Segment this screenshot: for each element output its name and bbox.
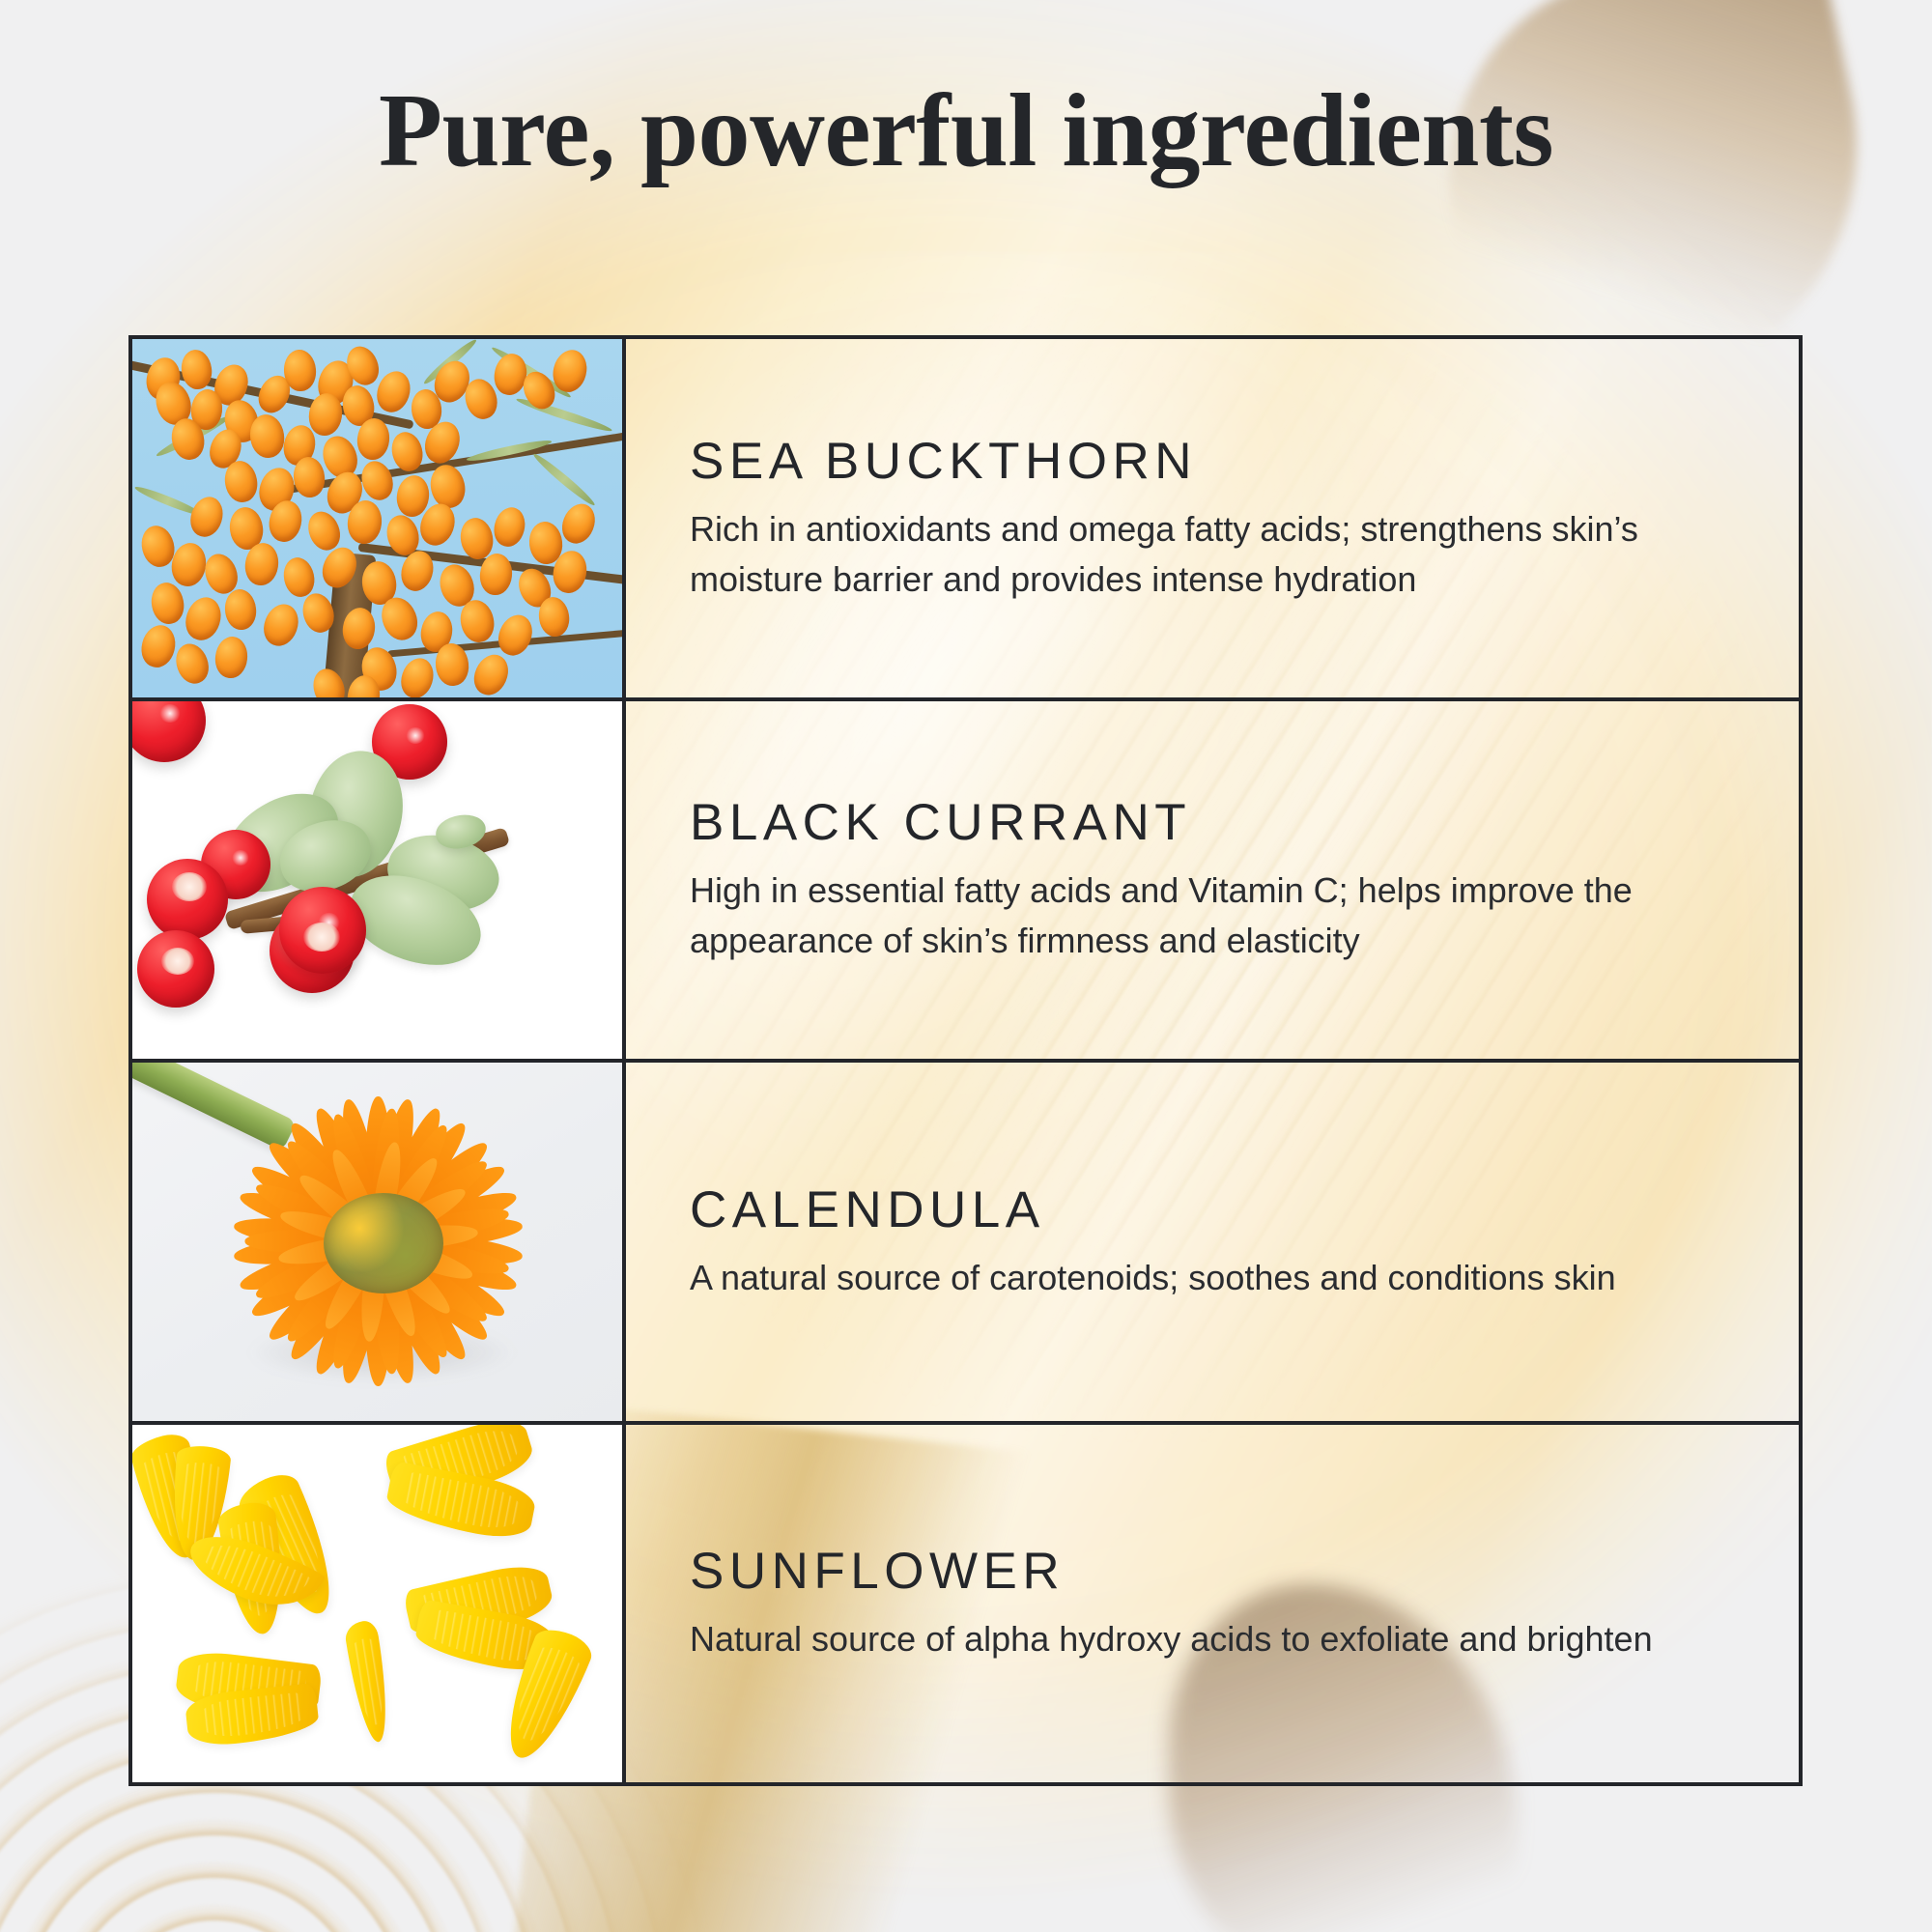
table-row: BLACK CURRANT High in essential fatty ac…	[132, 701, 1799, 1064]
ingredient-text-sunflower: SUNFLOWER Natural source of alpha hydrox…	[626, 1425, 1799, 1783]
table-row: CALENDULA A natural source of carotenoid…	[132, 1063, 1799, 1425]
ingredient-name: CALENDULA	[690, 1180, 1754, 1239]
ingredient-description: Natural source of alpha hydroxy acids to…	[690, 1614, 1743, 1664]
ingredient-photo-sea-buckthorn	[132, 339, 626, 697]
ingredient-photo-sunflower	[132, 1425, 626, 1783]
ingredient-description: High in essential fatty acids and Vitami…	[690, 866, 1743, 966]
ingredient-description: A natural source of carotenoids; soothes…	[690, 1253, 1743, 1303]
ingredient-photo-black-currant	[132, 701, 626, 1060]
ingredients-infographic: Pure, powerful ingredients	[0, 0, 1932, 1932]
page-title: Pure, powerful ingredients	[0, 75, 1932, 188]
table-row: SEA BUCKTHORN Rich in antioxidants and o…	[132, 339, 1799, 701]
ingredient-name: SUNFLOWER	[690, 1542, 1754, 1601]
ingredient-photo-calendula	[132, 1063, 626, 1421]
ingredient-text-calendula: CALENDULA A natural source of carotenoid…	[626, 1063, 1799, 1421]
ingredient-name: BLACK CURRANT	[690, 793, 1754, 852]
ingredient-description: Rich in antioxidants and omega fatty aci…	[690, 504, 1743, 605]
ingredient-text-black-currant: BLACK CURRANT High in essential fatty ac…	[626, 701, 1799, 1060]
ingredient-name: SEA BUCKTHORN	[690, 432, 1754, 491]
ingredient-text-sea-buckthorn: SEA BUCKTHORN Rich in antioxidants and o…	[626, 339, 1799, 697]
ingredients-table: SEA BUCKTHORN Rich in antioxidants and o…	[128, 335, 1803, 1786]
table-row: SUNFLOWER Natural source of alpha hydrox…	[132, 1425, 1799, 1783]
